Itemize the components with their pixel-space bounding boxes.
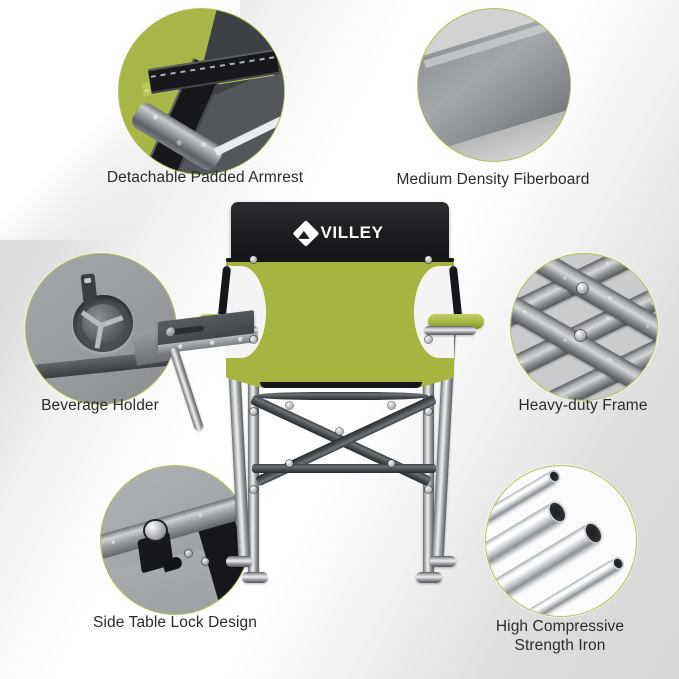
feature-image-heavy-duty-frame bbox=[510, 253, 658, 401]
chair-foot-front-left bbox=[226, 556, 252, 567]
seat-top-edge bbox=[226, 258, 454, 262]
feature-image-medium-density-fiberboard bbox=[417, 8, 571, 162]
chair-seat-fabric bbox=[226, 258, 454, 388]
seat-front-rail bbox=[256, 392, 428, 400]
feature-label-detachable-padded-armrest: Detachable Padded Armrest bbox=[60, 168, 350, 187]
armrest-support-right bbox=[424, 326, 476, 335]
feature-label-high-compressive-strength-iron: High Compressive Strength Iron bbox=[455, 617, 665, 655]
side-table-support-strut bbox=[169, 347, 204, 432]
cross-brace-lower-rail bbox=[252, 464, 436, 473]
infographic-canvas: Detachable Padded Armrest Medium Density… bbox=[0, 0, 679, 679]
chair-foot-front-right bbox=[430, 556, 456, 567]
chair-foot-rear-left bbox=[242, 572, 268, 583]
chair-foot-rear-right bbox=[416, 572, 442, 583]
feature-label-medium-density-fiberboard: Medium Density Fiberboard bbox=[373, 170, 613, 189]
side-table-slot bbox=[170, 325, 204, 335]
brand-name: VILLEY bbox=[320, 223, 383, 243]
side-table-pin bbox=[166, 327, 175, 337]
brand-logo: VILLEY bbox=[296, 223, 383, 243]
chair-backrest: VILLEY bbox=[231, 202, 449, 264]
feature-image-detachable-padded-armrest bbox=[118, 8, 285, 175]
feature-label-side-table-lock-design: Side Table Lock Design bbox=[35, 613, 315, 632]
feature-image-beverage-holder bbox=[25, 253, 177, 405]
seat-bottom-edge bbox=[260, 382, 422, 388]
product-image-camping-chair: VILLEY bbox=[160, 196, 520, 596]
diamond-mountain-logo-icon bbox=[293, 220, 320, 247]
